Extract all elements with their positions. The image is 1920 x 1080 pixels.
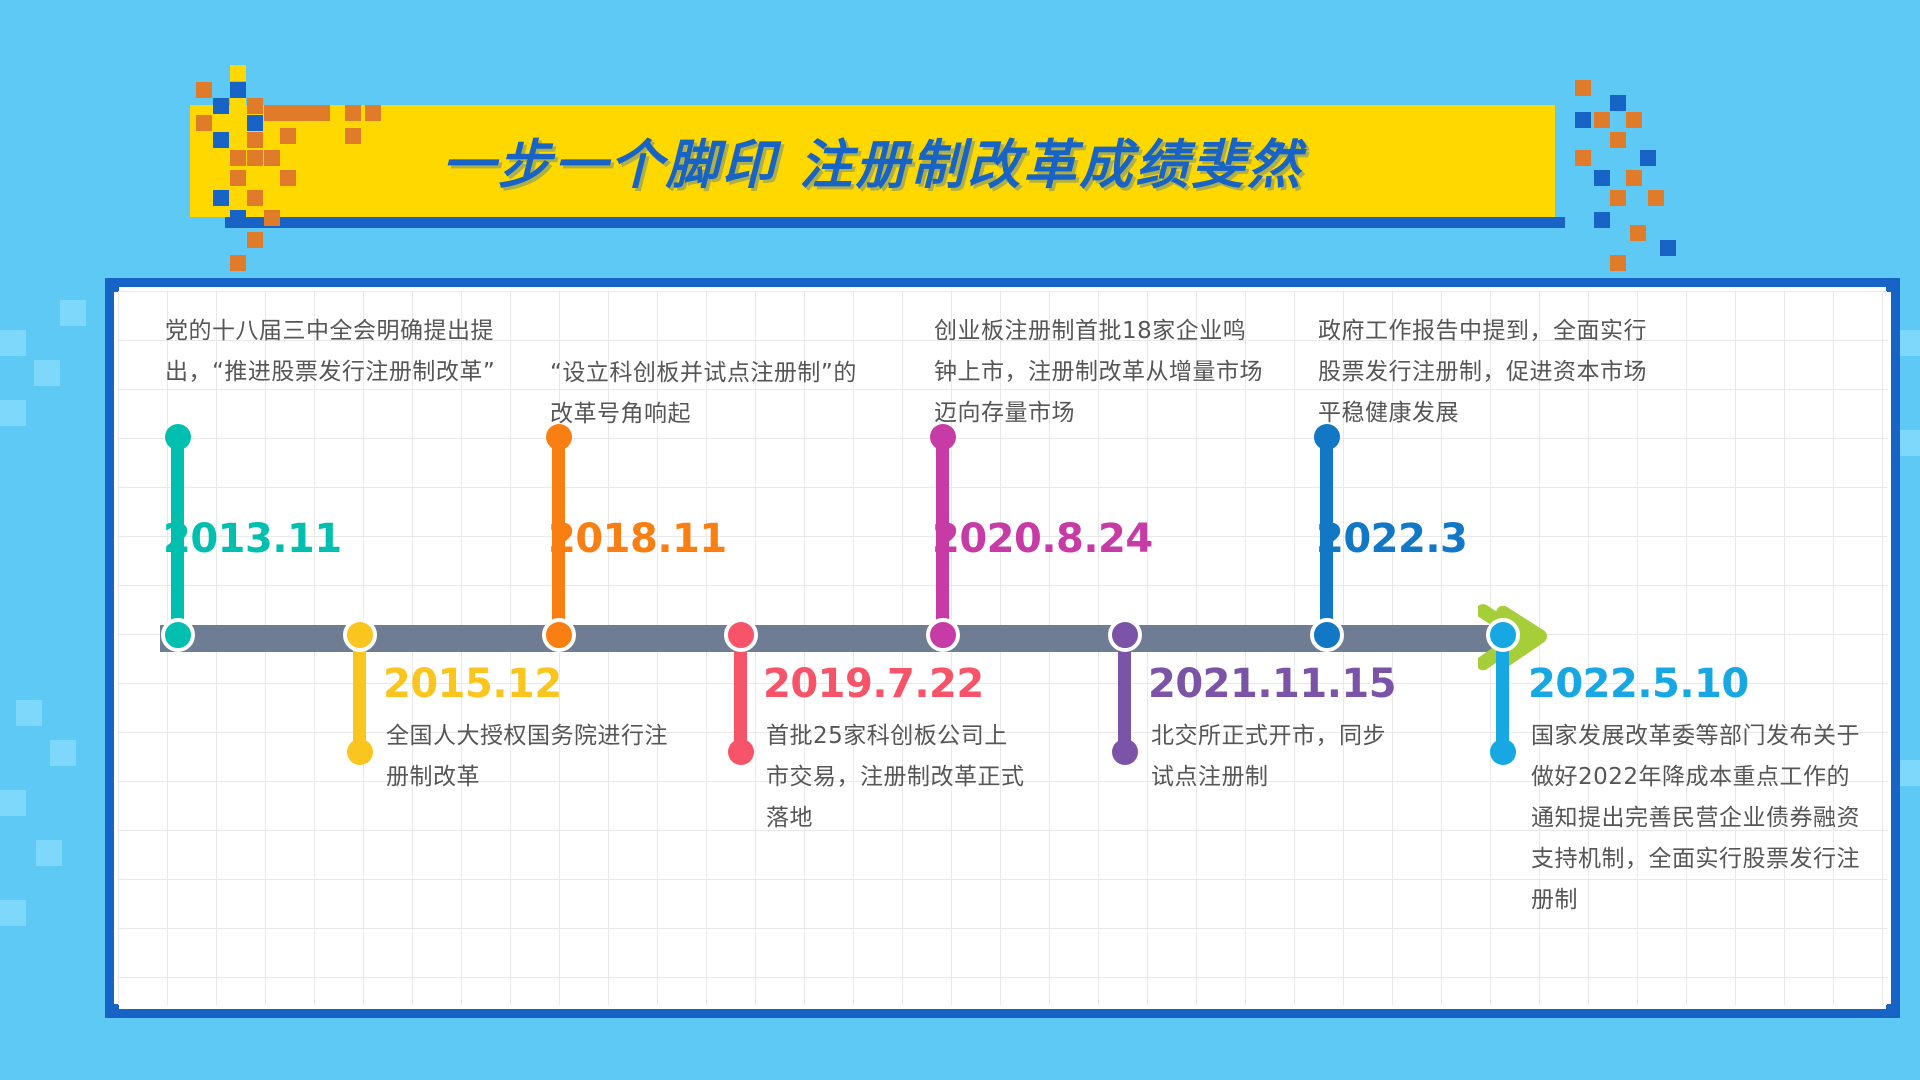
node-description: 政府工作报告中提到，全面实行股票发行注册制，促进资本市场平稳健康发展: [1318, 311, 1663, 434]
node-dot[interactable]: [542, 618, 576, 652]
node-description: “设立科创板并试点注册制”的改革号角响起: [550, 353, 870, 435]
timeline-grid-canvas: 2013.11 党的十八届三中全会明确提出提出，“推进股票发行注册制改革” 20…: [118, 291, 1887, 1005]
title-banner: 一步一个脚印 注册制改革成绩斐然: [190, 105, 1555, 217]
node-date-label: 2015.12: [383, 661, 562, 707]
node-description: 全国人大授权国务院进行注册制改革: [386, 716, 676, 798]
panel-corner-marker: [1886, 278, 1900, 292]
node-dot[interactable]: [161, 618, 195, 652]
node-description: 国家发展改革委等部门发布关于做好2022年降成本重点工作的通知提出完善民营企业债…: [1531, 716, 1866, 921]
panel-corner-marker: [1886, 1004, 1900, 1018]
bg-pixel-decor: [0, 330, 26, 356]
page-title: 一步一个脚印 注册制改革成绩斐然: [190, 105, 1555, 217]
panel-corner-marker: [105, 1004, 119, 1018]
node-stem: [353, 636, 366, 751]
node-date-label: 2021.11.15: [1148, 661, 1396, 707]
node-stem: [1496, 636, 1509, 751]
node-date-label: 2018.11: [548, 516, 727, 562]
bg-pixel-decor: [0, 900, 26, 926]
node-endcap-dot: [347, 739, 373, 765]
bg-pixel-decor: [0, 790, 26, 816]
node-description: 党的十八届三中全会明确提出提出，“推进股票发行注册制改革”: [165, 311, 510, 393]
node-stem: [1118, 636, 1131, 751]
bg-pixel-decor: [16, 700, 42, 726]
node-dot[interactable]: [724, 618, 758, 652]
node-stem: [734, 636, 747, 751]
node-dot[interactable]: [1486, 618, 1520, 652]
bg-pixel-decor: [34, 360, 60, 386]
node-date-label: 2022.5.10: [1528, 661, 1749, 707]
node-date-label: 2020.8.24: [932, 516, 1153, 562]
bg-pixel-decor: [60, 300, 86, 326]
node-dot[interactable]: [1108, 618, 1142, 652]
title-underline: [225, 217, 1565, 228]
node-date-label: 2013.11: [163, 516, 342, 562]
node-description: 首批25家科创板公司上市交易，注册制改革正式落地: [766, 716, 1028, 839]
panel-corner-marker: [105, 278, 119, 292]
node-endcap-dot: [1490, 739, 1516, 765]
bg-pixel-decor: [50, 740, 76, 766]
node-description: 创业板注册制首批18家企业鸣钟上市，注册制改革从增量市场迈向存量市场: [934, 311, 1264, 434]
node-date-label: 2019.7.22: [763, 661, 984, 707]
bg-pixel-decor: [0, 400, 26, 426]
node-description: 北交所正式开市，同步试点注册制: [1151, 716, 1401, 798]
node-dot[interactable]: [926, 618, 960, 652]
node-dot[interactable]: [1310, 618, 1344, 652]
node-dot[interactable]: [343, 618, 377, 652]
bg-pixel-decor: [36, 840, 62, 866]
node-endcap-dot: [165, 424, 191, 450]
node-endcap-dot: [728, 739, 754, 765]
node-date-label: 2022.3: [1316, 516, 1467, 562]
node-endcap-dot: [1112, 739, 1138, 765]
